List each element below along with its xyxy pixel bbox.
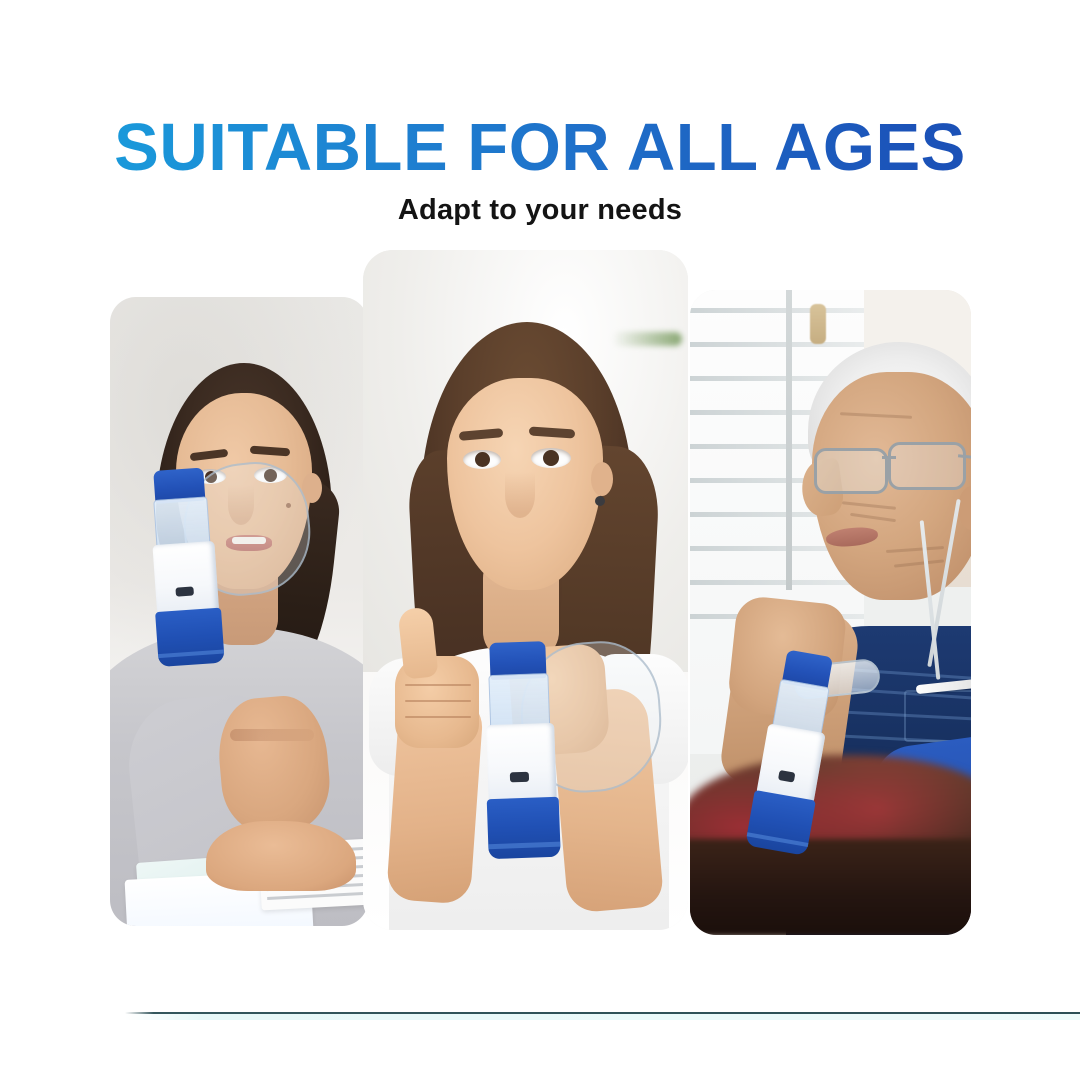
header-block: SUITABLE FOR ALL AGES Adapt to your need… bbox=[0, 0, 1080, 227]
eyeglasses-lens-left bbox=[814, 448, 888, 494]
panel-senior bbox=[690, 290, 971, 935]
resting-hand bbox=[206, 821, 356, 891]
device-grip bbox=[487, 796, 561, 859]
panel-adult bbox=[110, 297, 368, 926]
pupil-right bbox=[543, 450, 559, 466]
adult-photo bbox=[110, 297, 368, 926]
page-subtitle: Adapt to your needs bbox=[0, 194, 1080, 227]
shirt-pocket bbox=[904, 690, 971, 742]
knuckles bbox=[230, 729, 314, 741]
pupil-left bbox=[475, 452, 490, 467]
finger-creases bbox=[405, 678, 471, 732]
nebulizer-device bbox=[481, 641, 560, 859]
device-body bbox=[486, 723, 557, 803]
device-indicator-icon bbox=[510, 771, 529, 782]
earring bbox=[595, 496, 605, 506]
device-indicator-icon bbox=[176, 586, 194, 597]
eyeglasses-bridge bbox=[882, 456, 896, 459]
hanging-ornament bbox=[810, 304, 826, 344]
panel-child bbox=[363, 250, 688, 930]
blanket-shadow bbox=[690, 839, 971, 935]
device-grip bbox=[155, 608, 225, 667]
device-grip-band bbox=[747, 832, 809, 847]
ear bbox=[591, 462, 613, 496]
device-grip bbox=[745, 790, 816, 856]
nebulizer-device bbox=[145, 467, 225, 667]
device-grip-band bbox=[158, 649, 224, 658]
page-title: SUITABLE FOR ALL AGES bbox=[0, 114, 1080, 181]
bottom-divider-glow bbox=[125, 1014, 1080, 1020]
blind-rod bbox=[786, 290, 792, 590]
child-photo bbox=[363, 250, 688, 930]
nose bbox=[505, 472, 535, 518]
senior-photo bbox=[690, 290, 971, 935]
eyeglasses-lens-right bbox=[888, 442, 966, 490]
background-plant-blur bbox=[612, 332, 682, 346]
device-grip-band bbox=[488, 842, 560, 849]
device-body bbox=[152, 541, 219, 616]
